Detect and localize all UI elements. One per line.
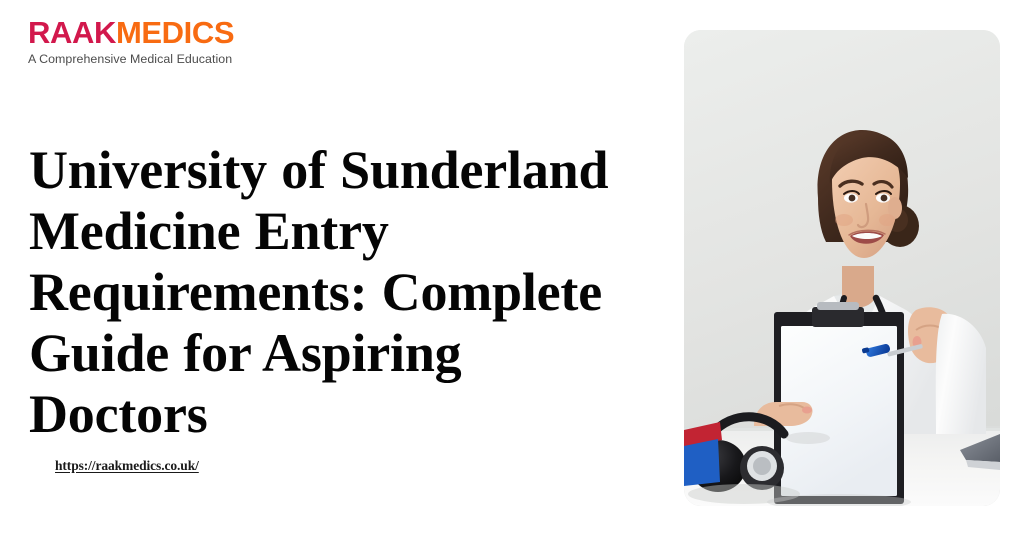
website-url-link[interactable]: https://raakmedics.co.uk/ <box>55 458 199 474</box>
photo-cheek-right <box>879 214 895 226</box>
photo-fingernail-left <box>802 407 812 414</box>
photo-stethoscope-shadow <box>786 432 830 444</box>
photo-neck <box>842 266 874 308</box>
photo-blue-case <box>684 439 720 486</box>
brand-logo[interactable]: RAAKMEDICS A Comprehensive Medical Educa… <box>28 17 288 66</box>
page-title: University of Sunderland Medicine Entry … <box>29 140 654 445</box>
logo-tagline: A Comprehensive Medical Education <box>28 52 288 66</box>
logo-wordmark: RAAKMEDICS <box>28 17 288 49</box>
logo-word-medics: MEDICS <box>116 15 234 50</box>
doctor-photo <box>684 30 1000 506</box>
photo-iris-right <box>881 195 888 202</box>
doctor-photo-illustration <box>684 30 1000 506</box>
photo-clipboard-clip-metal <box>817 302 859 310</box>
photo-iris-left <box>849 195 856 202</box>
photo-cheek-left <box>835 214 853 226</box>
slide-canvas: RAAKMEDICS A Comprehensive Medical Educa… <box>0 0 1024 536</box>
photo-cuff-gauge-dial <box>753 457 771 475</box>
logo-word-raak: RAAK <box>28 15 116 50</box>
